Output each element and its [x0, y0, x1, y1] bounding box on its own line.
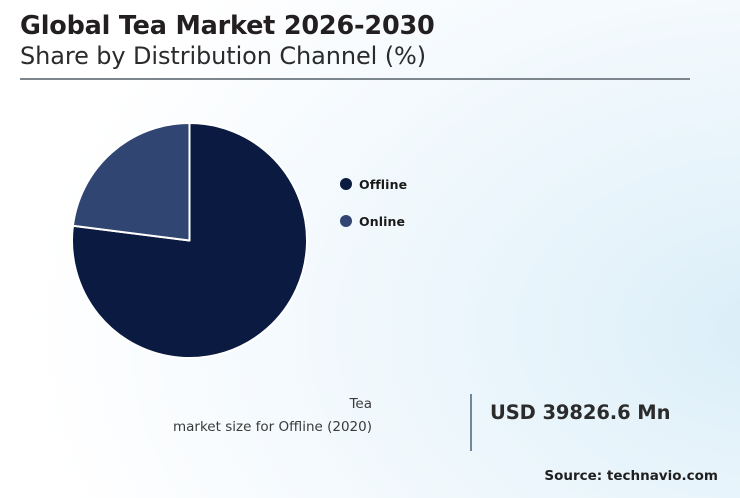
legend-swatch-offline-icon	[340, 178, 352, 190]
legend-label-online: Online	[359, 214, 405, 229]
stat-label-line2: market size for Offline (2020)	[173, 419, 372, 435]
stat-label-line1: Tea	[349, 396, 372, 412]
legend-swatch-online-icon	[340, 215, 352, 227]
pie-slice-online[interactable]	[73, 123, 190, 241]
source-note: Source: technavio.com	[544, 468, 718, 484]
legend-label-offline: Offline	[359, 177, 407, 192]
chart-title: Global Tea Market 2026-2030	[20, 12, 692, 42]
stat-value: USD 39826.6 Mn	[490, 401, 670, 424]
legend-item-online[interactable]: Online	[340, 208, 407, 234]
legend-item-offline[interactable]: Offline	[340, 171, 407, 197]
pie-slice-offline[interactable]	[72, 123, 307, 358]
stat-vertical-divider	[470, 394, 472, 451]
chart-legend: Offline Online	[340, 171, 407, 245]
chart-canvas: Global Tea Market 2026-2030 Share by Dis…	[0, 0, 740, 498]
stat-label: Tea market size for Offline (2020)	[110, 393, 372, 439]
chart-header: Global Tea Market 2026-2030 Share by Dis…	[20, 12, 692, 70]
header-divider	[20, 78, 690, 80]
pie-slice-group	[72, 123, 307, 358]
highlight-stat: Tea market size for Offline (2020) USD 3…	[190, 393, 660, 453]
chart-subtitle: Share by Distribution Channel (%)	[20, 43, 692, 71]
